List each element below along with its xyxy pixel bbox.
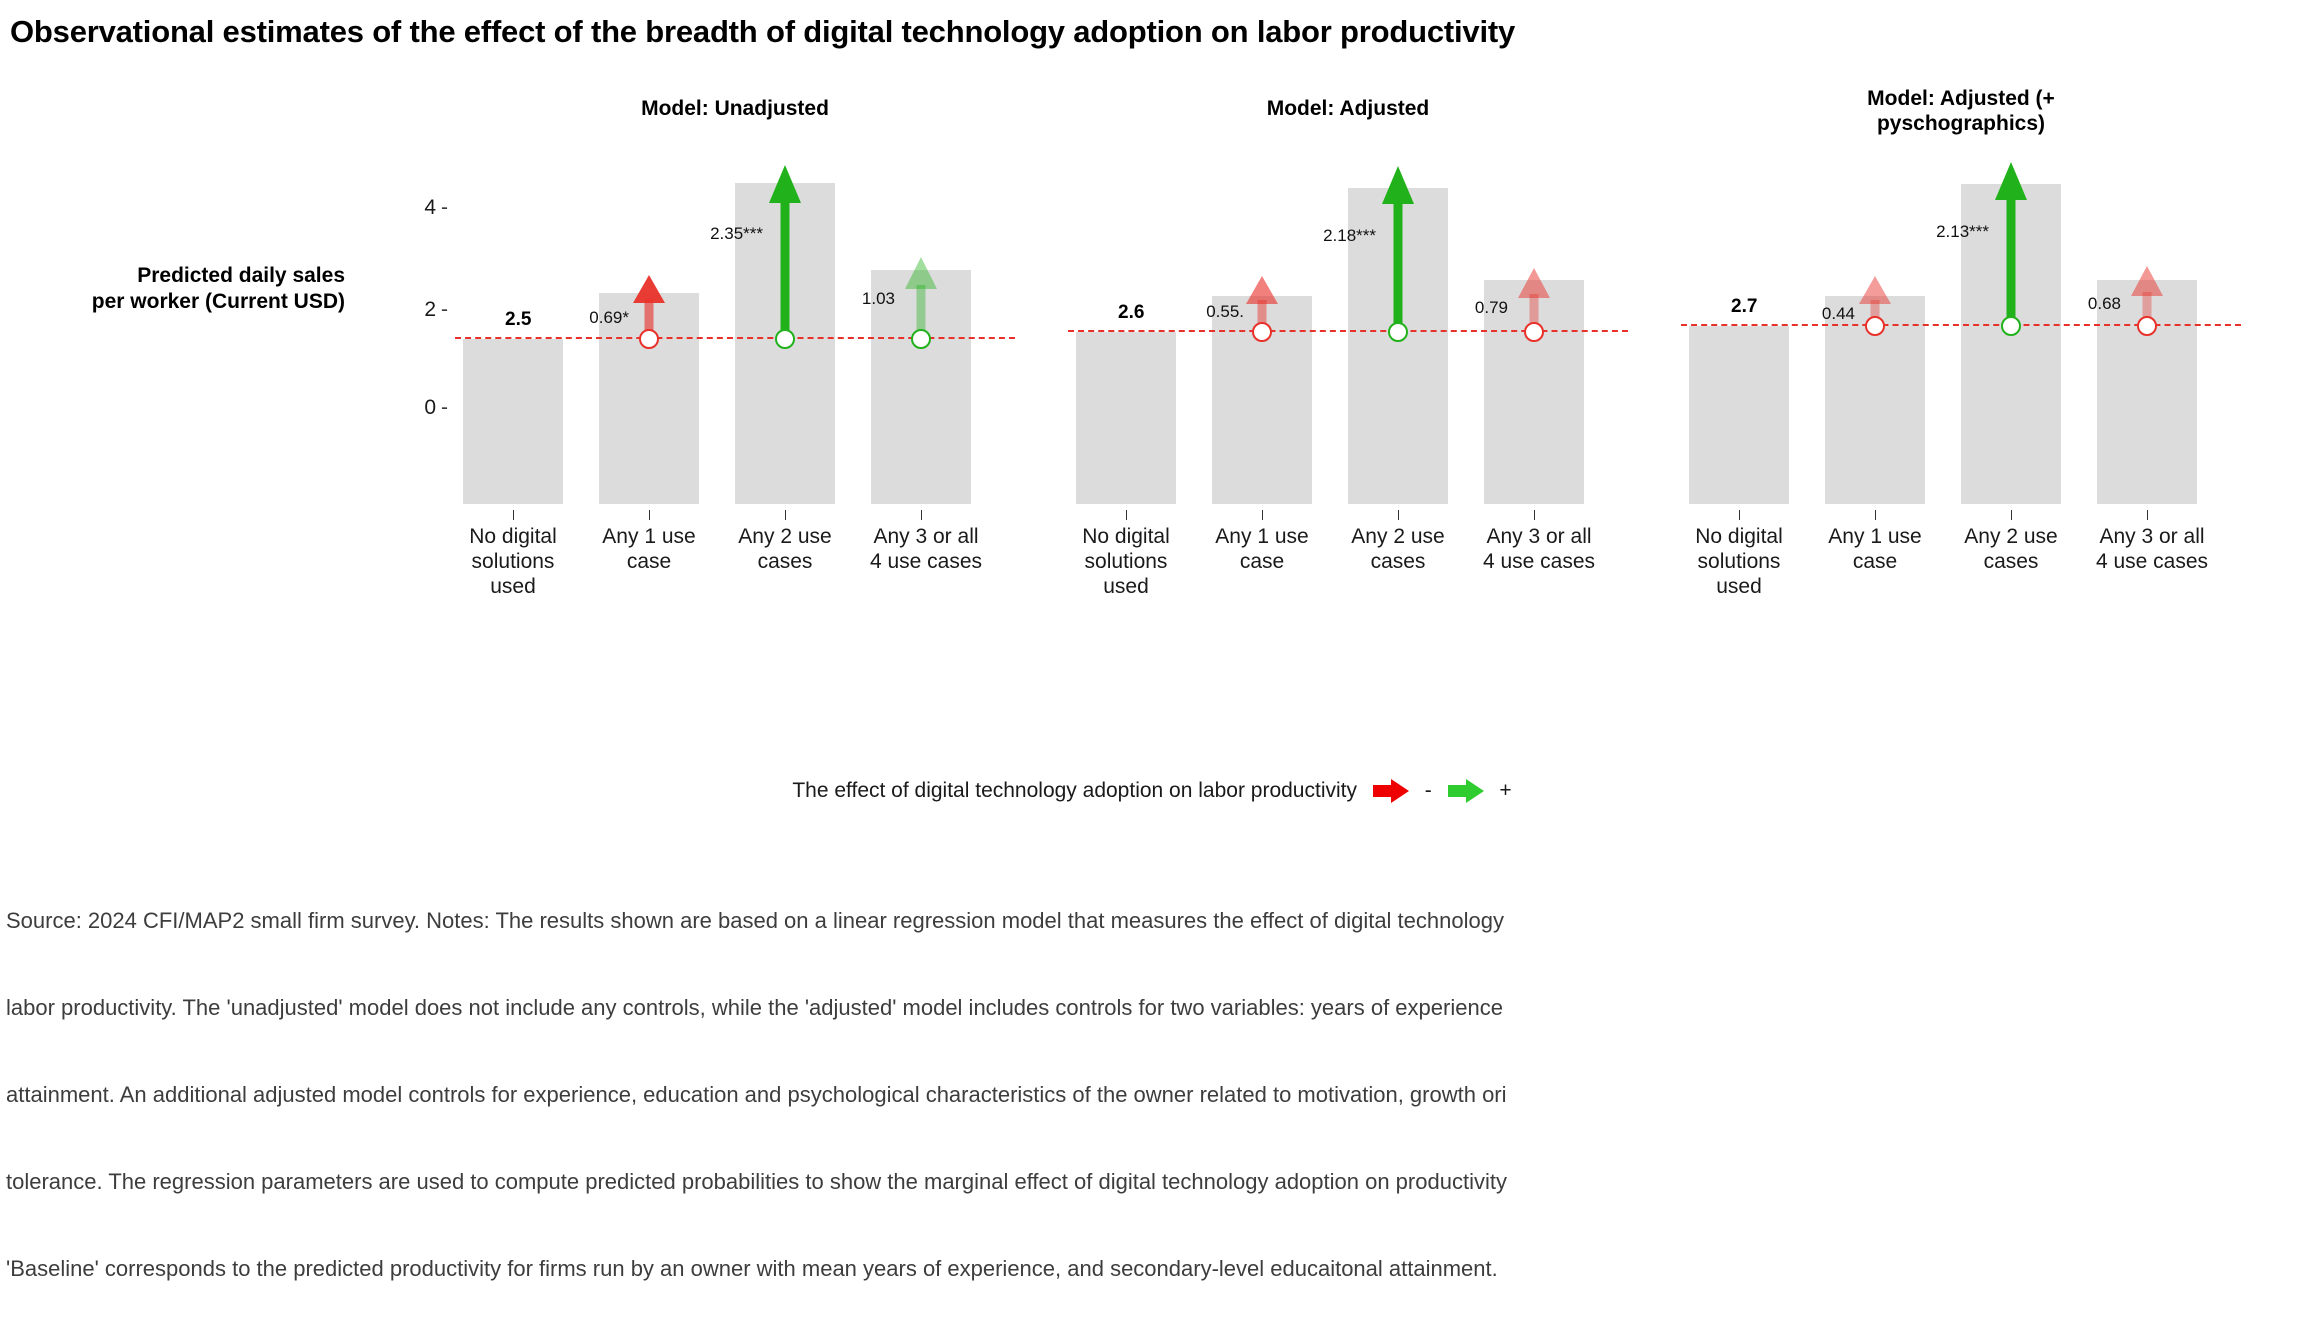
- x-tick-3: [921, 510, 922, 520]
- caption-line-4: tolerance. The regression parameters are…: [6, 1167, 2304, 1196]
- x-tick-1: [1262, 510, 1263, 520]
- bar-no-digital: [463, 339, 563, 504]
- x-tick-3: [2147, 510, 2148, 520]
- baseline-marker-any-2: [2001, 316, 2021, 336]
- x-tick-2: [2011, 510, 2012, 520]
- panel-adjusted-psychographics: Model: Adjusted (+ pyschographics) 2.7 0…: [1681, 86, 2241, 586]
- effect-arrow-any-2: [1378, 164, 1418, 332]
- caption-line-2: labor productivity. The 'unadjusted' mod…: [6, 993, 2304, 1022]
- baseline-marker-any-2: [775, 329, 795, 349]
- y-axis-title-line1: Predicted daily sales: [55, 263, 345, 289]
- effect-label-any-3-or-4: 0.79: [1424, 298, 1508, 318]
- x-tick-0: [1126, 510, 1127, 520]
- x-tick-0: [1739, 510, 1740, 520]
- x-tick-3: [1534, 510, 1535, 520]
- x-label-any-2: Any 2 use cases: [1330, 524, 1466, 574]
- legend-positive-arrow-icon: [1446, 778, 1486, 804]
- y-axis-title: Predicted daily sales per worker (Curren…: [55, 263, 345, 315]
- caption-line-3: attainment. An additional adjusted model…: [6, 1080, 2304, 1109]
- legend-negative-arrow-icon: [1371, 778, 1411, 804]
- baseline-value-adjusted: 2.6: [1118, 302, 1144, 324]
- caption-line-1: Source: 2024 CFI/MAP2 small firm survey.…: [6, 906, 2304, 935]
- x-tick-2: [785, 510, 786, 520]
- plot-area-adjusted-psychographics: 2.7 0.44 2.13***: [1681, 160, 2241, 504]
- x-label-any-1: Any 1 use case: [581, 524, 717, 574]
- panel-adjusted: Model: Adjusted 2.6 0.55.: [1068, 96, 1628, 596]
- panel-unadjusted: Model: Unadjusted 2.5 0.69*: [455, 96, 1015, 596]
- y-tick-2: 2-: [424, 298, 448, 322]
- effect-label-any-3-or-4: 1.03: [815, 289, 895, 309]
- effect-label-any-2: 2.35***: [653, 224, 763, 244]
- plot-area-unadjusted: 2.5 0.69* 2.35***: [455, 160, 1015, 504]
- x-tick-2: [1398, 510, 1399, 520]
- chart-legend: The effect of digital technology adoptio…: [0, 778, 2304, 804]
- effect-arrow-any-3-or-4: [901, 255, 941, 339]
- page-title: Observational estimates of the effect of…: [10, 14, 1515, 50]
- x-label-any-2: Any 2 use cases: [717, 524, 853, 574]
- baseline-value-unadjusted: 2.5: [505, 309, 531, 331]
- x-label-any-2: Any 2 use cases: [1943, 524, 2079, 574]
- caption-line-5: 'Baseline' corresponds to the predicted …: [6, 1254, 2304, 1283]
- x-label-any-3-or-4: Any 3 or all 4 use cases: [1466, 524, 1612, 574]
- y-tick-0: 0-: [424, 396, 448, 420]
- x-label-no-digital: No digital solutions used: [1671, 524, 1807, 599]
- x-label-any-1: Any 1 use case: [1194, 524, 1330, 574]
- x-label-any-3-or-4: Any 3 or all 4 use cases: [853, 524, 999, 574]
- effect-label-any-1: 0.55.: [1152, 302, 1244, 322]
- plot-area-adjusted: 2.6 0.55. 2.18***: [1068, 160, 1628, 504]
- panel-title-adjusted-psychographics: Model: Adjusted (+ pyschographics): [1751, 86, 2171, 136]
- baseline-marker-any-2: [1388, 322, 1408, 342]
- x-label-any-3-or-4: Any 3 or all 4 use cases: [2079, 524, 2225, 574]
- x-tick-1: [649, 510, 650, 520]
- panel-title-unadjusted: Model: Unadjusted: [455, 96, 1015, 121]
- source-note: Source: 2024 CFI/MAP2 small firm survey.…: [6, 848, 2304, 1341]
- bar-no-digital: [1689, 326, 1789, 504]
- legend-title: The effect of digital technology adoptio…: [792, 779, 1357, 803]
- baseline-marker-any-1: [1252, 322, 1272, 342]
- baseline-marker-any-3-or-4: [1524, 322, 1544, 342]
- chart-figure: Observational estimates of the effect of…: [0, 0, 2304, 1036]
- bar-no-digital: [1076, 332, 1176, 504]
- x-label-any-1: Any 1 use case: [1807, 524, 1943, 574]
- effect-label-any-1: 0.69*: [549, 308, 629, 328]
- x-label-no-digital: No digital solutions used: [1058, 524, 1194, 599]
- baseline-marker-any-3-or-4: [2137, 316, 2157, 336]
- effect-arrow-any-2: [1991, 160, 2031, 326]
- effect-label-any-2: 2.13***: [1879, 222, 1989, 242]
- baseline-value-adjusted-psychographics: 2.7: [1731, 296, 1757, 318]
- legend-positive-label: +: [1499, 779, 1511, 803]
- effect-label-any-1: 0.44: [1777, 304, 1855, 324]
- x-label-no-digital: No digital solutions used: [445, 524, 581, 599]
- effect-label-any-2: 2.18***: [1266, 226, 1376, 246]
- baseline-marker-any-1: [639, 329, 659, 349]
- x-tick-0: [513, 510, 514, 520]
- effect-arrow-any-2: [765, 163, 805, 339]
- panel-title-adjusted: Model: Adjusted: [1068, 96, 1628, 121]
- y-axis-title-line2: per worker (Current USD): [55, 289, 345, 315]
- legend-negative-label: -: [1425, 779, 1432, 803]
- baseline-marker-any-1: [1865, 316, 1885, 336]
- baseline-marker-any-3-or-4: [911, 329, 931, 349]
- y-tick-4: 4-: [424, 196, 448, 220]
- x-tick-1: [1875, 510, 1876, 520]
- effect-label-any-3-or-4: 0.68: [2037, 294, 2121, 314]
- y-axis: 4- 2- 0-: [390, 160, 448, 504]
